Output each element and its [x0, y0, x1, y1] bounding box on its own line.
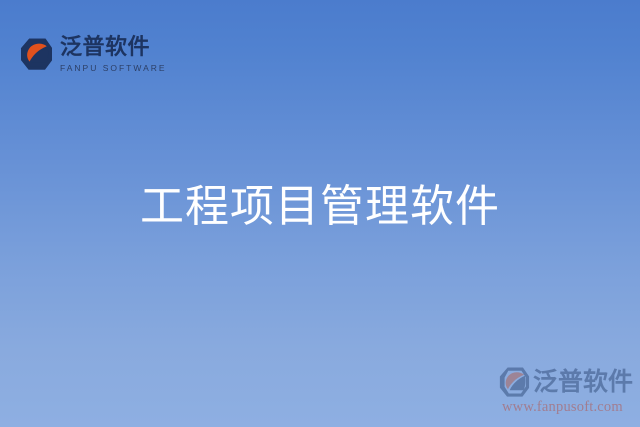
fanpu-hexagon-swoosh-logo-icon — [19, 37, 53, 71]
watermark-brand-name-cn: 泛普软件 — [533, 368, 633, 396]
brand-header-text: 泛普软件 FANPU SOFTWARE — [60, 36, 167, 74]
page-title: 工程项目管理软件 — [0, 180, 640, 234]
watermark-logo-row: 泛普软件 — [498, 366, 633, 398]
watermark: 泛普软件 www.fanpusoft.com — [498, 366, 633, 415]
brand-name-en: FANPU SOFTWARE — [60, 62, 167, 74]
brand-header-logo[interactable]: 泛普软件 FANPU SOFTWARE — [19, 36, 167, 74]
brand-name-cn: 泛普软件 — [60, 36, 167, 60]
slide-canvas: 泛普软件 FANPU SOFTWARE 工程项目管理软件 泛普软件 www.fa… — [0, 0, 640, 427]
fanpu-hexagon-swoosh-logo-icon — [498, 366, 530, 398]
watermark-url: www.fanpusoft.com — [502, 399, 633, 415]
